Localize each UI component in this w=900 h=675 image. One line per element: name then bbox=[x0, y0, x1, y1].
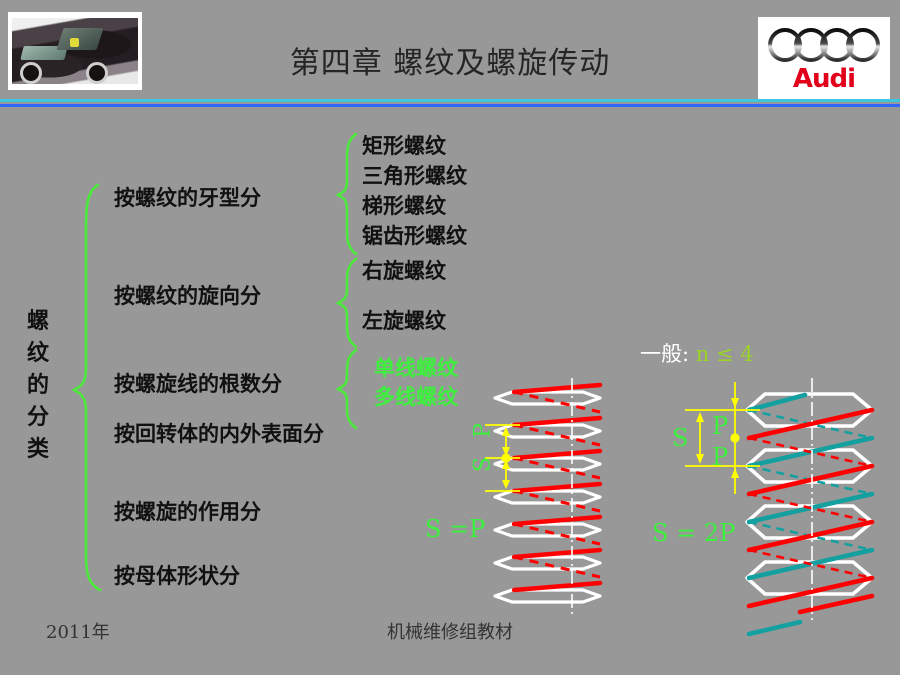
root-label-char-3: 分 bbox=[18, 401, 58, 433]
category-label-0[interactable]: 按螺纹的牙型分 bbox=[114, 182, 261, 212]
category-label-4[interactable]: 按螺旋的作用分 bbox=[114, 496, 261, 526]
general-note-prefix: 一般: bbox=[640, 342, 689, 366]
subitem-1-0[interactable]: 右旋螺纹 bbox=[362, 255, 446, 285]
subitem-2-1[interactable]: 多线螺纹 bbox=[374, 381, 458, 411]
brace-group-2 bbox=[338, 259, 356, 347]
slide: 第四章 螺纹及螺旋传动 Audi 螺 bbox=[0, 0, 900, 675]
root-label-char-0: 螺 bbox=[18, 305, 58, 337]
category-label-5[interactable]: 按母体形状分 bbox=[114, 560, 240, 590]
main-brace bbox=[74, 185, 100, 590]
general-note-formula: n ≤ 4 bbox=[696, 342, 754, 366]
caption-single-start: S =P bbox=[425, 515, 485, 543]
dim-label-right-P2: P bbox=[712, 443, 728, 471]
audi-wordmark: Audi bbox=[758, 65, 890, 93]
root-label-vertical: 螺 纹 的 分 类 bbox=[18, 305, 58, 465]
footer-source: 机械维修组教材 bbox=[0, 618, 900, 644]
root-label-char-2: 的 bbox=[18, 369, 58, 401]
category-label-2[interactable]: 按螺旋线的根数分 bbox=[114, 368, 282, 398]
car-highlight bbox=[70, 38, 79, 47]
subitem-0-3[interactable]: 锯齿形螺纹 bbox=[362, 220, 467, 250]
audi-logo: Audi bbox=[758, 17, 890, 99]
car-rear-wheel bbox=[86, 62, 108, 84]
divider-blue bbox=[0, 104, 900, 107]
car-windshield bbox=[56, 28, 103, 50]
category-label-1[interactable]: 按螺纹的旋向分 bbox=[114, 280, 261, 310]
diagram-single-start bbox=[485, 378, 600, 617]
divider-cyan bbox=[0, 99, 900, 102]
dim-label-left-P: P bbox=[471, 416, 496, 446]
audi-four-rings-icon bbox=[767, 25, 881, 65]
subitem-0-0[interactable]: 矩形螺纹 bbox=[362, 130, 446, 160]
caption-double-start: S = 2P bbox=[652, 519, 735, 547]
dim-label-left-S: S bbox=[471, 450, 496, 480]
root-label-char-1: 纹 bbox=[18, 337, 58, 369]
category-label-3[interactable]: 按回转体的内外表面分 bbox=[114, 418, 324, 448]
car-photo bbox=[8, 12, 142, 90]
general-note: 一般: n ≤ 4 bbox=[640, 338, 754, 368]
brace-group-3 bbox=[338, 350, 356, 428]
subitem-0-2[interactable]: 梯形螺纹 bbox=[362, 190, 446, 220]
dim-label-right-P1: P bbox=[712, 412, 728, 440]
subitem-1-1[interactable]: 左旋螺纹 bbox=[362, 305, 446, 335]
slide-header: 第四章 螺纹及螺旋传动 Audi bbox=[0, 0, 900, 99]
brace-group-1 bbox=[338, 134, 356, 254]
root-label-char-4: 类 bbox=[18, 433, 58, 465]
dim-label-right-S: S bbox=[672, 424, 688, 452]
page-title: 第四章 螺纹及螺旋传动 bbox=[160, 38, 740, 82]
car-front-wheel bbox=[20, 62, 42, 84]
subitem-2-0[interactable]: 单线螺纹 bbox=[374, 352, 458, 382]
subitem-0-1[interactable]: 三角形螺纹 bbox=[362, 160, 467, 190]
